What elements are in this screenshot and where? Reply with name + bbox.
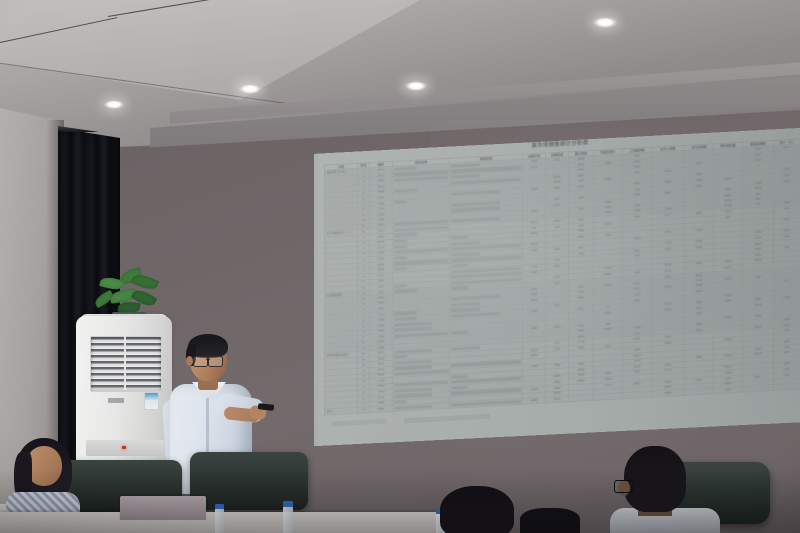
table-cell <box>594 393 623 400</box>
conference-table <box>0 512 470 533</box>
blurred-text-block <box>451 330 468 334</box>
attendee-head <box>440 486 514 533</box>
blurred-text-block <box>394 284 407 288</box>
projected-slide: 某市场销售统计分析表 分类 序号 编号 项目名称 规格说明 本期计划 本期完成 … <box>318 128 800 446</box>
blurred-text-block <box>394 404 432 409</box>
blurred-text-block <box>451 286 468 290</box>
blurred-text-block <box>394 256 407 260</box>
table-cell: 6985 <box>523 397 546 404</box>
ac-energy-label <box>144 392 159 410</box>
glasses-icon <box>193 356 208 367</box>
table-cell: 6300 <box>546 396 569 403</box>
table-cell: 8 <box>358 407 370 413</box>
downlight-icon <box>593 17 617 28</box>
conference-room-photo: 某市场销售统计分析表 分类 序号 编号 项目名称 规格说明 本期计划 本期完成 … <box>0 0 800 533</box>
water-bottle[interactable] <box>215 508 224 533</box>
seated-attendee-far-right <box>520 508 580 533</box>
table-cell <box>569 394 594 401</box>
laptop[interactable] <box>120 496 206 520</box>
blurred-text-block <box>451 264 468 268</box>
screen-frame: 某市场销售统计分析表 分类 序号 编号 项目名称 规格说明 本期计划 本期完成 … <box>306 128 800 446</box>
bottle-cap <box>215 504 224 509</box>
blurred-text-block <box>394 245 407 249</box>
glasses-icon <box>614 480 634 493</box>
glasses-bridge-icon <box>206 359 210 360</box>
blurred-text-block <box>394 200 407 204</box>
blurred-text-block <box>451 374 468 378</box>
ac-brand-logo <box>108 398 124 403</box>
glasses-icon <box>208 356 223 367</box>
blurred-text-block <box>394 239 407 243</box>
table-cell: 3610 <box>370 405 393 412</box>
table-cell: 合计 <box>325 407 358 414</box>
table-cell <box>774 383 800 390</box>
table-cell <box>623 391 652 398</box>
seated-attendee-right <box>600 446 730 533</box>
blurred-text-block <box>394 400 407 404</box>
bottle-cap <box>283 501 293 507</box>
projection-screen[interactable]: 某市场销售统计分析表 分类 序号 编号 项目名称 规格说明 本期计划 本期完成 … <box>306 128 800 448</box>
blurred-text-block <box>451 386 468 390</box>
downlight-icon <box>405 81 427 91</box>
blurred-text-block <box>394 267 407 271</box>
downlight-icon <box>239 84 261 94</box>
ac-vent-divider <box>124 336 126 390</box>
blurred-text-block <box>451 236 468 240</box>
table-cell: 1190 <box>714 386 743 393</box>
table-cell <box>743 385 774 392</box>
table-cell: 8003 <box>652 389 685 396</box>
water-bottle[interactable] <box>283 506 293 533</box>
spreadsheet-table: 分类 序号 编号 项目名称 规格说明 本期计划 本期完成 累计完成 完成比例% … <box>324 137 800 416</box>
ac-vent-louvres <box>90 336 162 392</box>
table-cell <box>685 388 714 395</box>
table-body: 销售部门汇总1637278296711886531831666712656213… <box>325 142 800 414</box>
attendee-head <box>624 446 686 512</box>
presenter-ear <box>186 356 193 366</box>
downlight-icon <box>104 100 124 109</box>
blurred-text-block <box>394 355 407 359</box>
ac-led-indicator-icon <box>122 446 126 449</box>
